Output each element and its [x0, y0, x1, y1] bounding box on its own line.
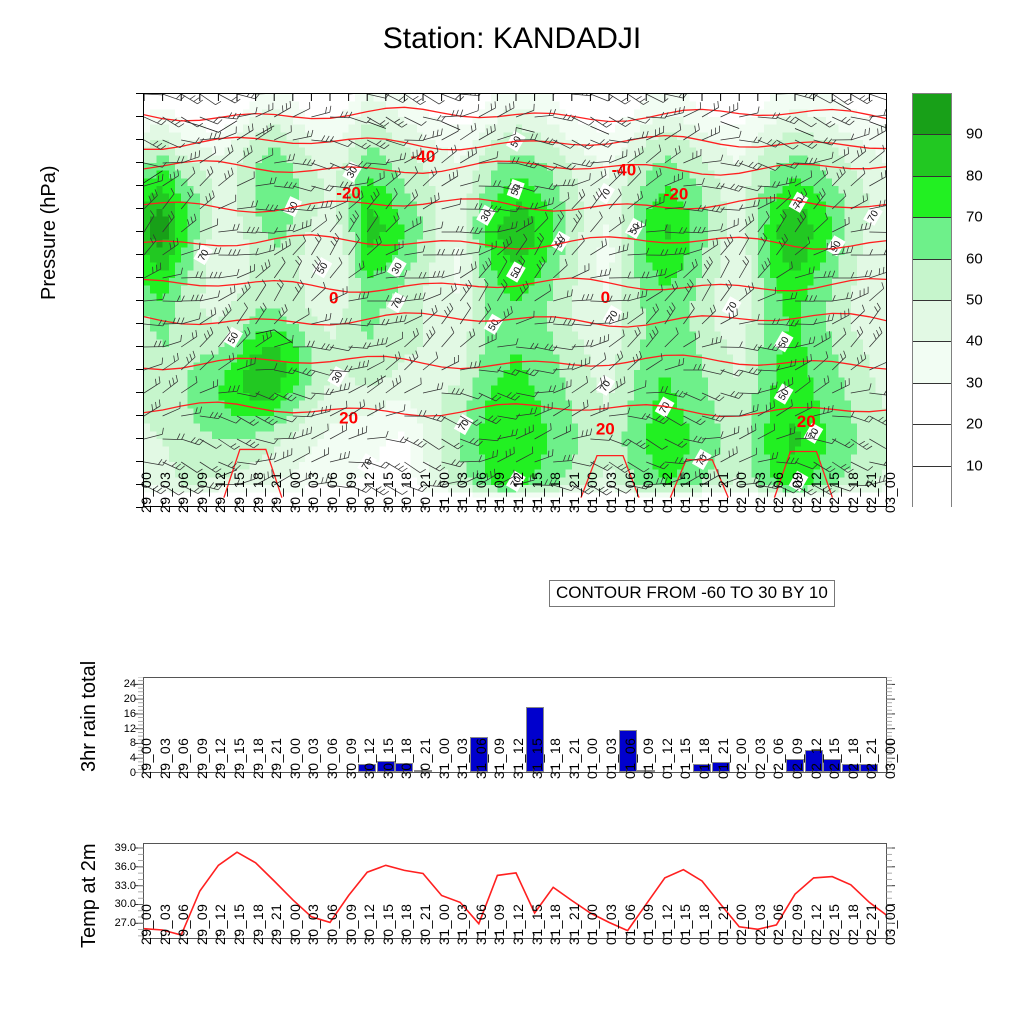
main-time-label-02_00: 02_00	[733, 472, 749, 513]
page-title: Station: KANDADJI	[0, 22, 1024, 56]
pressure-tick-labels: 1502002503003504004505005506006507007508…	[0, 0, 1024, 1]
isotherm-label-20-8: 20	[797, 412, 816, 431]
colorbar-label-70: 70	[966, 209, 983, 226]
temp-time-label-30_15: 30_15	[380, 904, 396, 945]
main-time-label-30_15: 30_15	[380, 472, 396, 513]
temp-time-label-30_21: 30_21	[417, 904, 433, 945]
temp-time-label-31_15: 31_15	[529, 904, 545, 945]
rain-time-label-02_21: 02_21	[863, 738, 879, 779]
pressure-tick-mark	[136, 93, 143, 94]
humidity-shading	[144, 94, 887, 507]
temp-time-label-01_12: 01_12	[659, 904, 675, 945]
pressure-tick-mark	[136, 185, 143, 186]
temp-time-label-01_15: 01_15	[677, 904, 693, 945]
colorbar-band-4	[913, 260, 951, 301]
temp-tick-36.0: 36.0	[115, 861, 136, 873]
rain-time-label-02_15: 02_15	[826, 738, 842, 779]
pressure-tick-mark	[136, 231, 143, 232]
colorbar-legend: 908070605040302010	[912, 93, 1012, 507]
main-time-label-01_06: 01_06	[622, 472, 638, 513]
main-time-label-01_00: 01_00	[584, 472, 600, 513]
rain-time-label-30_12: 30_12	[361, 738, 377, 779]
isotherm-label--20-3: -20	[664, 184, 689, 203]
colorbar-label-90: 90	[966, 126, 983, 143]
colorbar-bands	[912, 93, 952, 507]
rain-time-label-29_00: 29_00	[138, 738, 154, 779]
rain-time-label-31_15: 31_15	[529, 738, 545, 779]
rain-time-label-01_18: 01_18	[696, 738, 712, 779]
temp-time-label-01_03: 01_03	[603, 904, 619, 945]
rain-time-label-29_12: 29_12	[212, 738, 228, 779]
rain-time-label-29_21: 29_21	[268, 738, 284, 779]
temp-time-label-02_18: 02_18	[845, 904, 861, 945]
rain-time-label-02_18: 02_18	[845, 738, 861, 779]
rain-time-label-31_06: 31_06	[473, 738, 489, 779]
rain-tick-24: 24	[124, 678, 136, 690]
pressure-tick-mark	[136, 162, 143, 163]
main-time-label-30_00: 30_00	[287, 472, 303, 513]
temp-tick-30.0: 30.0	[115, 898, 136, 910]
main-time-label-29_15: 29_15	[231, 472, 247, 513]
temp-time-label-29_12: 29_12	[212, 904, 228, 945]
pressure-tick-mark	[136, 369, 143, 370]
rain-time-label-02_03: 02_03	[752, 738, 768, 779]
main-time-label-01_12: 01_12	[659, 472, 675, 513]
rain-time-label-30_06: 30_06	[324, 738, 340, 779]
rain-time-label-31_12: 31_12	[510, 738, 526, 779]
pressure-tick-mark	[136, 300, 143, 301]
pressure-tick-mark	[136, 116, 143, 117]
rain-time-label-30_15: 30_15	[380, 738, 396, 779]
temp-time-label-29_03: 29_03	[157, 904, 173, 945]
rain-time-label-29_18: 29_18	[250, 738, 266, 779]
isotherm-label--20-2: -20	[336, 184, 361, 203]
temp-time-label-02_03: 02_03	[752, 904, 768, 945]
temp-time-label-01_18: 01_18	[696, 904, 712, 945]
main-time-label-31_21: 31_21	[566, 472, 582, 513]
main-time-label-31_09: 31_09	[491, 472, 507, 513]
main-time-label-02_12: 02_12	[808, 472, 824, 513]
rain-time-label-30_03: 30_03	[305, 738, 321, 779]
rain-time-label-31_09: 31_09	[491, 738, 507, 779]
rain-time-label-02_12: 02_12	[808, 738, 824, 779]
colorbar-label-80: 80	[966, 167, 983, 184]
pressure-tick-mark	[136, 392, 143, 393]
temp-time-label-01_21: 01_21	[715, 904, 731, 945]
isotherm-label-0-4: 0	[329, 289, 338, 308]
rain-time-label-29_15: 29_15	[231, 738, 247, 779]
temp-time-label-29_21: 29_21	[268, 904, 284, 945]
temp-tick-27.0: 27.0	[115, 917, 136, 929]
rain-time-label-30_21: 30_21	[417, 738, 433, 779]
rain-time-label-03_00: 03_00	[882, 738, 898, 779]
colorbar-label-30: 30	[966, 374, 983, 391]
rain-time-label-02_00: 02_00	[733, 738, 749, 779]
temp-time-label-31_00: 31_00	[436, 904, 452, 945]
temp-time-label-01_09: 01_09	[640, 904, 656, 945]
temp-time-label-02_06: 02_06	[770, 904, 786, 945]
pressure-tick-mark	[136, 415, 143, 416]
main-time-label-29_18: 29_18	[250, 472, 266, 513]
pressure-tick-mark	[136, 208, 143, 209]
rain-tick-4: 4	[130, 752, 136, 764]
rain-tick-8: 8	[130, 737, 136, 749]
main-time-label-30_03: 30_03	[305, 472, 321, 513]
temp-time-label-29_00: 29_00	[138, 904, 154, 945]
pressure-tick-mark	[136, 438, 143, 439]
rain-time-label-01_12: 01_12	[659, 738, 675, 779]
temp-time-label-03_00: 03_00	[882, 904, 898, 945]
main-time-label-02_18: 02_18	[845, 472, 861, 513]
temp-time-label-29_09: 29_09	[194, 904, 210, 945]
colorbar-label-10: 10	[966, 457, 983, 474]
rain-tick-20: 20	[124, 693, 136, 705]
main-time-label-30_12: 30_12	[361, 472, 377, 513]
pressure-tick-mark	[136, 346, 143, 347]
temp-time-label-01_06: 01_06	[622, 904, 638, 945]
pressure-tick-mark	[136, 323, 143, 324]
colorbar-label-50: 50	[966, 292, 983, 309]
temp-time-label-29_15: 29_15	[231, 904, 247, 945]
pressure-axis-title: Pressure (hPa)	[38, 166, 61, 301]
colorbar-label-40: 40	[966, 333, 983, 350]
main-time-label-02_21: 02_21	[863, 472, 879, 513]
main-time-label-31_15: 31_15	[529, 472, 545, 513]
temp-time-label-02_12: 02_12	[808, 904, 824, 945]
temp-time-label-31_06: 31_06	[473, 904, 489, 945]
time-tick-labels-temp: 29_0029_0329_0629_0929_1229_1529_1829_21…	[143, 945, 887, 1005]
temp-time-label-02_00: 02_00	[733, 904, 749, 945]
time-tick-labels-rain: 29_0029_0329_0629_0929_1229_1529_1829_21…	[143, 779, 887, 839]
rain-time-label-02_09: 02_09	[789, 738, 805, 779]
temp-time-label-30_18: 30_18	[398, 904, 414, 945]
main-time-label-03_00: 03_00	[882, 472, 898, 513]
main-time-label-31_18: 31_18	[547, 472, 563, 513]
temp-time-label-01_00: 01_00	[584, 904, 600, 945]
temp-time-label-30_06: 30_06	[324, 904, 340, 945]
rain-time-label-01_09: 01_09	[640, 738, 656, 779]
time-tick-labels-main: 29_0029_0329_0629_0929_1229_1529_1829_21…	[143, 513, 887, 583]
cross-section-panel: 5030507030305070707050305050907050707050…	[143, 93, 887, 507]
colorbar-band-0	[913, 94, 951, 135]
main-time-label-31_06: 31_06	[473, 472, 489, 513]
pressure-tick-mark	[136, 139, 143, 140]
main-time-label-01_15: 01_15	[677, 472, 693, 513]
main-time-label-01_09: 01_09	[640, 472, 656, 513]
colorbar-label-20: 20	[966, 416, 983, 433]
temp-time-label-30_12: 30_12	[361, 904, 377, 945]
temp-tick-33.0: 33.0	[115, 880, 136, 892]
rain-time-label-29_03: 29_03	[157, 738, 173, 779]
colorbar-band-9	[913, 467, 951, 508]
main-time-label-01_21: 01_21	[715, 472, 731, 513]
temp-time-label-02_21: 02_21	[863, 904, 879, 945]
rain-time-label-01_15: 01_15	[677, 738, 693, 779]
temp-time-label-02_15: 02_15	[826, 904, 842, 945]
main-time-label-02_09: 02_09	[789, 472, 805, 513]
temp-time-label-31_09: 31_09	[491, 904, 507, 945]
main-time-label-29_21: 29_21	[268, 472, 284, 513]
rain-time-label-30_09: 30_09	[343, 738, 359, 779]
rain-time-label-01_03: 01_03	[603, 738, 619, 779]
main-time-label-02_03: 02_03	[752, 472, 768, 513]
colorbar-band-8	[913, 425, 951, 466]
main-time-label-02_06: 02_06	[770, 472, 786, 513]
main-time-label-01_03: 01_03	[603, 472, 619, 513]
main-time-label-29_03: 29_03	[157, 472, 173, 513]
rain-tick-0: 0	[130, 767, 136, 779]
main-time-label-30_06: 30_06	[324, 472, 340, 513]
main-time-label-30_09: 30_09	[343, 472, 359, 513]
temp-tick-labels: 27.030.033.036.039.0	[92, 843, 136, 939]
temp-time-label-30_09: 30_09	[343, 904, 359, 945]
rain-time-label-02_06: 02_06	[770, 738, 786, 779]
temp-time-label-31_12: 31_12	[510, 904, 526, 945]
rain-time-label-31_21: 31_21	[566, 738, 582, 779]
rain-time-label-29_09: 29_09	[194, 738, 210, 779]
main-time-label-02_15: 02_15	[826, 472, 842, 513]
colorbar-band-5	[913, 301, 951, 342]
rain-time-label-31_03: 31_03	[454, 738, 470, 779]
pressure-tick-mark	[136, 277, 143, 278]
main-time-label-29_06: 29_06	[175, 472, 191, 513]
rain-time-label-29_06: 29_06	[175, 738, 191, 779]
temp-time-label-31_21: 31_21	[566, 904, 582, 945]
colorbar-label-60: 60	[966, 250, 983, 267]
temp-time-label-02_09: 02_09	[789, 904, 805, 945]
colorbar-band-1	[913, 135, 951, 176]
main-time-label-31_03: 31_03	[454, 472, 470, 513]
rain-tick-labels: 04812162024	[98, 677, 136, 773]
main-time-label-31_12: 31_12	[510, 472, 526, 513]
rain-time-label-01_06: 01_06	[622, 738, 638, 779]
rain-time-label-01_21: 01_21	[715, 738, 731, 779]
cross-section-plot-area: 5030507030305070707050305050907050707050…	[143, 93, 887, 507]
main-time-label-31_00: 31_00	[436, 472, 452, 513]
colorbar-band-7	[913, 384, 951, 425]
rain-time-label-31_18: 31_18	[547, 738, 563, 779]
main-time-label-29_00: 29_00	[138, 472, 154, 513]
main-time-label-01_18: 01_18	[696, 472, 712, 513]
cross-section-canvas: 5030507030305070707050305050907050707050…	[144, 94, 887, 507]
temp-tick-39.0: 39.0	[115, 842, 136, 854]
pressure-tick-mark	[136, 254, 143, 255]
temp-time-label-30_00: 30_00	[287, 904, 303, 945]
temp-time-label-31_03: 31_03	[454, 904, 470, 945]
rain-time-label-30_18: 30_18	[398, 738, 414, 779]
main-time-label-29_09: 29_09	[194, 472, 210, 513]
temp-time-label-30_03: 30_03	[305, 904, 321, 945]
main-time-label-30_21: 30_21	[417, 472, 433, 513]
main-time-label-30_18: 30_18	[398, 472, 414, 513]
rain-tick-16: 16	[124, 708, 136, 720]
temp-time-label-31_18: 31_18	[547, 904, 563, 945]
rain-tick-12: 12	[124, 723, 136, 735]
temp-time-label-29_18: 29_18	[250, 904, 266, 945]
temp-time-label-29_06: 29_06	[175, 904, 191, 945]
colorbar-band-2	[913, 177, 951, 218]
contour-range-note: CONTOUR FROM -60 TO 30 BY 10	[549, 580, 835, 607]
rain-time-label-30_00: 30_00	[287, 738, 303, 779]
isotherm-label-0-5: 0	[601, 288, 610, 307]
pressure-tick-mark	[136, 461, 143, 462]
colorbar-band-6	[913, 342, 951, 383]
rain-time-label-01_00: 01_00	[584, 738, 600, 779]
rain-time-label-31_00: 31_00	[436, 738, 452, 779]
main-time-label-29_12: 29_12	[212, 472, 228, 513]
colorbar-band-3	[913, 218, 951, 259]
